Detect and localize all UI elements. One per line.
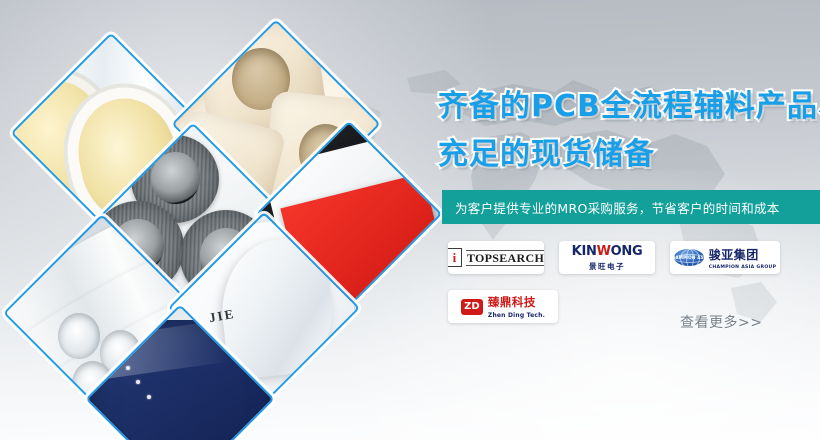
view-more-link[interactable]: 查看更多>>: [680, 312, 762, 332]
subtitle-bar: 为客户提供专业的MRO采购服务，节省客户的时间和成本: [442, 190, 820, 224]
kinwong-en-accent: W: [597, 244, 611, 259]
subtitle-text: 为客户提供专业的MRO采购服务，节省客户的时间和成本: [442, 198, 780, 217]
topsearch-name: TOPSEARCH: [466, 250, 544, 266]
champion-name-cn: 骏亚集团: [709, 246, 777, 263]
globe-icon: CHAMPION ASIA: [674, 249, 704, 266]
topsearch-mark-icon: i: [448, 248, 462, 267]
kinwong-name-en: KINWONG: [572, 244, 643, 259]
promo-banner: JIE 齐备的PCB全流程辅料产品、 充足的现货储备 为客户提供专业的MRO采购…: [0, 0, 820, 440]
logo-zhen-ding[interactable]: ZD 臻鼎科技 Zhen Ding Tech.: [448, 290, 558, 323]
kinwong-en-right: ONG: [611, 244, 643, 259]
kinwong-en-left: KIN: [572, 244, 597, 259]
champion-name-en: CHAMPION ASIA GROUP: [709, 265, 777, 270]
banner-text-block: 齐备的PCB全流程辅料产品、 充足的现货储备 为客户提供专业的MRO采购服务，节…: [430, 0, 820, 440]
zhen-ding-mark-icon: ZD: [461, 299, 483, 315]
logo-champion-asia[interactable]: CHAMPION ASIA 骏亚集团 CHAMPION ASIA GROUP: [670, 241, 780, 274]
logo-kinwong[interactable]: KINWONG 景旺电子: [559, 241, 655, 274]
champion-globe-text: CHAMPION ASIA: [674, 255, 704, 260]
kinwong-name-cn: 景旺电子: [572, 261, 643, 272]
zhen-ding-name-cn: 臻鼎科技: [488, 294, 545, 310]
headline-line-2: 充足的现货储备: [438, 140, 655, 170]
zhen-ding-name-en: Zhen Ding Tech.: [488, 312, 545, 319]
headline-line-1: 齐备的PCB全流程辅料产品、: [438, 92, 820, 122]
product-collage: JIE: [0, 0, 430, 440]
logo-topsearch[interactable]: i TOPSEARCH: [448, 241, 544, 274]
